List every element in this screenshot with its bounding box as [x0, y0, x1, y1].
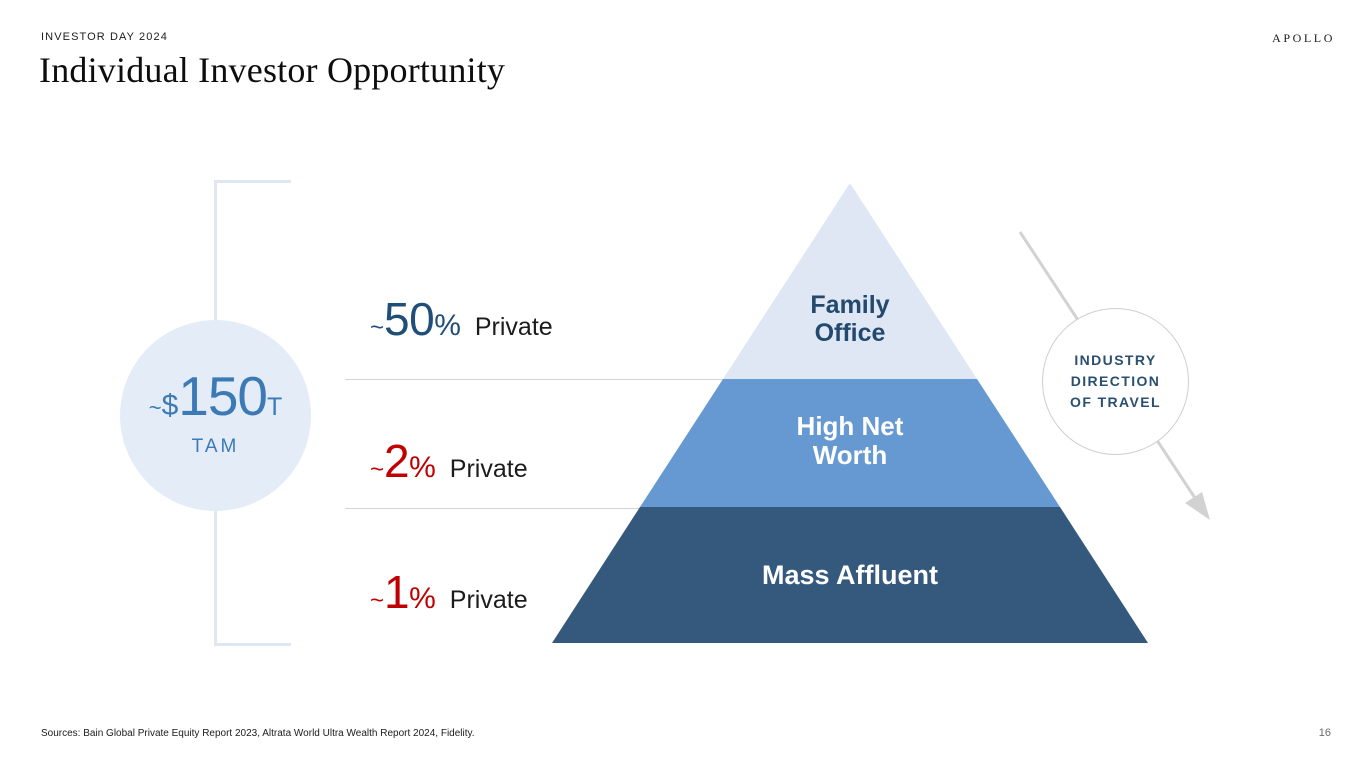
stat-percent: % — [409, 582, 436, 616]
pyramid-tier-family-office — [723, 183, 977, 379]
tam-label: TAM — [192, 436, 240, 458]
stat-number: 2 — [384, 434, 409, 488]
stat-approx: ~ — [370, 587, 384, 615]
travel-line-3: OF TRAVEL — [1070, 392, 1161, 413]
stat-approx: ~ — [370, 456, 384, 484]
page-number: 16 — [1319, 727, 1331, 739]
pyramid-label-mass-affluent: Mass Affluent — [700, 560, 1000, 590]
stat-row: ~ 1 % Private — [370, 565, 528, 619]
stat-row: ~ 50 % Private — [370, 292, 553, 346]
brand-logo: APOLLO — [1272, 31, 1335, 46]
travel-line-1: INDUSTRY — [1074, 350, 1156, 371]
stat-percent: % — [409, 451, 436, 485]
eyebrow-label: INVESTOR DAY 2024 — [41, 31, 168, 43]
stat-row: ~ 2 % Private — [370, 434, 528, 488]
tam-circle: ~ $ 150 T TAM — [120, 320, 311, 511]
pyramid-label-high-net-worth: High NetWorth — [750, 412, 950, 470]
stat-approx: ~ — [370, 314, 384, 342]
stat-number: 1 — [384, 565, 409, 619]
direction-of-travel-circle: INDUSTRY DIRECTION OF TRAVEL — [1042, 308, 1189, 455]
sources-note: Sources: Bain Global Private Equity Repo… — [41, 728, 475, 739]
travel-line-2: DIRECTION — [1071, 371, 1161, 392]
tam-currency: $ — [162, 391, 179, 421]
stat-number: 50 — [384, 292, 434, 346]
pyramid-label-family-office: FamilyOffice — [750, 291, 950, 347]
tam-number: 150 — [178, 369, 267, 424]
tam-value: ~ $ 150 T — [149, 369, 283, 424]
stat-word: Private — [450, 586, 528, 615]
page-title: Individual Investor Opportunity — [39, 49, 505, 91]
tam-approx: ~ — [149, 397, 162, 419]
tam-unit: T — [267, 395, 282, 420]
stat-word: Private — [450, 455, 528, 484]
stat-percent: % — [434, 309, 461, 343]
